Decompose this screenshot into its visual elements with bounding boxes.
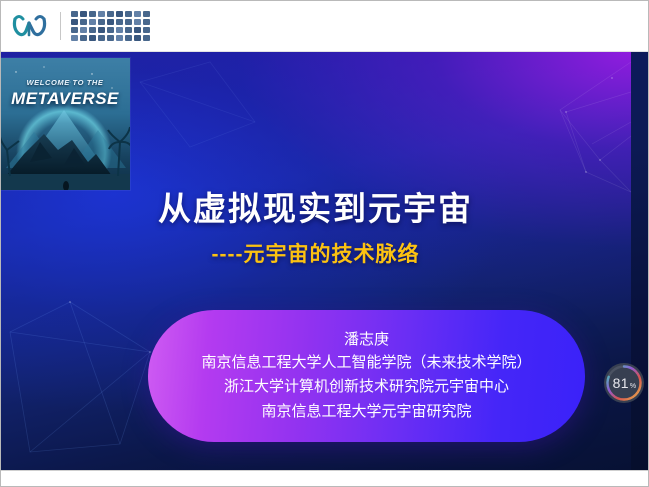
metaverse-cover-caption: WELCOME TO THE METAVERSE [0, 78, 130, 109]
progress-badge[interactable]: 81% [603, 362, 645, 404]
speaker-affiliation-2: 浙江大学计算机创新技术研究院元宇宙中心 [224, 375, 509, 399]
mvp-logo-icon [10, 11, 50, 41]
brand-wordmark [71, 11, 151, 42]
slide-title: 从虚拟现实到元宇宙 [0, 182, 631, 230]
slide-subtitle: ----元宇宙的技术脉络 [0, 238, 631, 268]
brand-divider [60, 12, 61, 40]
speaker-affiliation-1: 南京信息工程大学人工智能学院（未来技术学院） [201, 351, 531, 375]
brand-lockup[interactable] [10, 8, 151, 44]
progress-value: 81 [613, 375, 629, 391]
slide-viewer: WELCOME TO THE METAVERSE 从虚拟现实到元宇宙 ----元… [0, 0, 649, 487]
speaker-info-panel: 潘志庚 南京信息工程大学人工智能学院（未来技术学院） 浙江大学计算机创新技术研究… [148, 310, 585, 442]
progress-badge-label: 81% [603, 362, 645, 404]
presentation-slide[interactable]: WELCOME TO THE METAVERSE 从虚拟现实到元宇宙 ----元… [0, 52, 631, 470]
footer-divider [0, 470, 649, 471]
progress-unit: % [630, 383, 637, 390]
page-footer [0, 470, 649, 487]
page-header [0, 0, 649, 52]
speaker-affiliation-3: 南京信息工程大学元宇宙研究院 [261, 400, 471, 424]
speaker-name: 潘志庚 [344, 328, 389, 351]
metaverse-cover-image: WELCOME TO THE METAVERSE [0, 58, 130, 190]
cover-caption-big: METAVERSE [0, 89, 130, 109]
header-divider [0, 51, 649, 52]
cover-caption-small: WELCOME TO THE [0, 78, 130, 87]
